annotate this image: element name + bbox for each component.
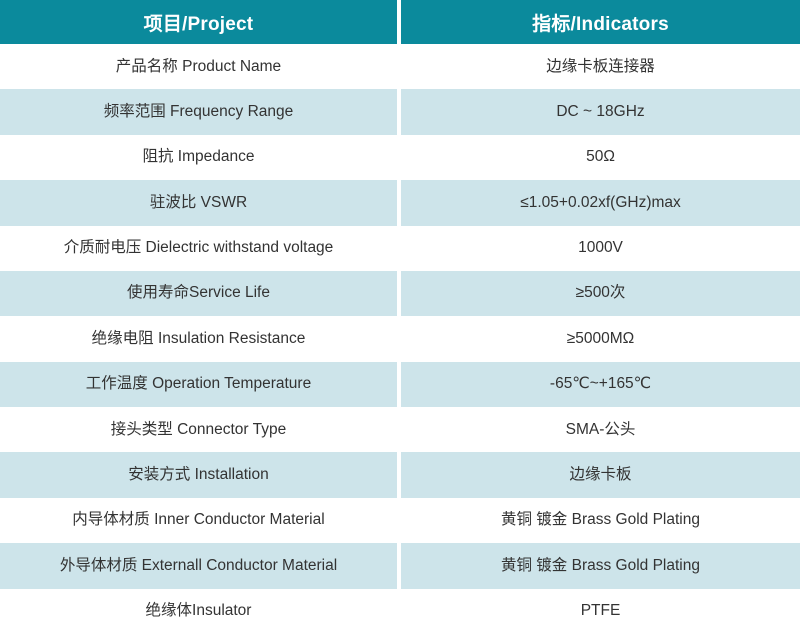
- cell-project: 绝缘体Insulator: [0, 589, 397, 634]
- table-header-row: 项目/Project 指标/Indicators: [0, 0, 800, 44]
- cell-project: 阻抗 Impedance: [0, 135, 397, 180]
- cell-project: 工作温度 Operation Temperature: [0, 362, 397, 407]
- cell-project: 驻波比 VSWR: [0, 180, 397, 225]
- table-row: 内导体材质 Inner Conductor Material黄铜 镀金 Bras…: [0, 498, 800, 543]
- table-row: 绝缘体InsulatorPTFE: [0, 589, 800, 634]
- table-row: 驻波比 VSWR≤1.05+0.02xf(GHz)max: [0, 180, 800, 225]
- table-row: 介质耐电压 Dielectric withstand voltage1000V: [0, 226, 800, 271]
- table-header: 项目/Project 指标/Indicators: [0, 0, 800, 44]
- table-row: 接头类型 Connector TypeSMA-公头: [0, 407, 800, 452]
- cell-indicators: DC ~ 18GHz: [401, 89, 800, 134]
- cell-project: 介质耐电压 Dielectric withstand voltage: [0, 226, 397, 271]
- cell-project: 使用寿命Service Life: [0, 271, 397, 316]
- cell-indicators: 1000V: [401, 226, 800, 271]
- cell-project: 接头类型 Connector Type: [0, 407, 397, 452]
- table-row: 绝缘电阻 Insulation Resistance≥5000MΩ: [0, 316, 800, 361]
- table-row: 阻抗 Impedance50Ω: [0, 135, 800, 180]
- cell-indicators: 边缘卡板连接器: [401, 44, 800, 89]
- table-body: 产品名称 Product Name边缘卡板连接器频率范围 Frequency R…: [0, 44, 800, 634]
- cell-indicators: 黄铜 镀金 Brass Gold Plating: [401, 498, 800, 543]
- cell-project: 频率范围 Frequency Range: [0, 89, 397, 134]
- cell-project: 安装方式 Installation: [0, 452, 397, 497]
- cell-indicators: PTFE: [401, 589, 800, 634]
- cell-project: 绝缘电阻 Insulation Resistance: [0, 316, 397, 361]
- table-row: 外导体材质 Externall Conductor Material黄铜 镀金 …: [0, 543, 800, 588]
- column-header-project: 项目/Project: [0, 0, 397, 44]
- cell-indicators: ≤1.05+0.02xf(GHz)max: [401, 180, 800, 225]
- cell-project: 产品名称 Product Name: [0, 44, 397, 89]
- cell-project: 内导体材质 Inner Conductor Material: [0, 498, 397, 543]
- cell-indicators: 边缘卡板: [401, 452, 800, 497]
- cell-project: 外导体材质 Externall Conductor Material: [0, 543, 397, 588]
- column-header-indicators: 指标/Indicators: [401, 0, 800, 44]
- cell-indicators: ≥500次: [401, 271, 800, 316]
- product-specification-table: 项目/Project 指标/Indicators 产品名称 Product Na…: [0, 0, 800, 634]
- table-row: 工作温度 Operation Temperature-65℃~+165℃: [0, 362, 800, 407]
- table-row: 使用寿命Service Life≥500次: [0, 271, 800, 316]
- cell-indicators: -65℃~+165℃: [401, 362, 800, 407]
- cell-indicators: SMA-公头: [401, 407, 800, 452]
- cell-indicators: 黄铜 镀金 Brass Gold Plating: [401, 543, 800, 588]
- table-row: 产品名称 Product Name边缘卡板连接器: [0, 44, 800, 89]
- cell-indicators: ≥5000MΩ: [401, 316, 800, 361]
- table-row: 安装方式 Installation边缘卡板: [0, 452, 800, 497]
- cell-indicators: 50Ω: [401, 135, 800, 180]
- table-row: 频率范围 Frequency RangeDC ~ 18GHz: [0, 89, 800, 134]
